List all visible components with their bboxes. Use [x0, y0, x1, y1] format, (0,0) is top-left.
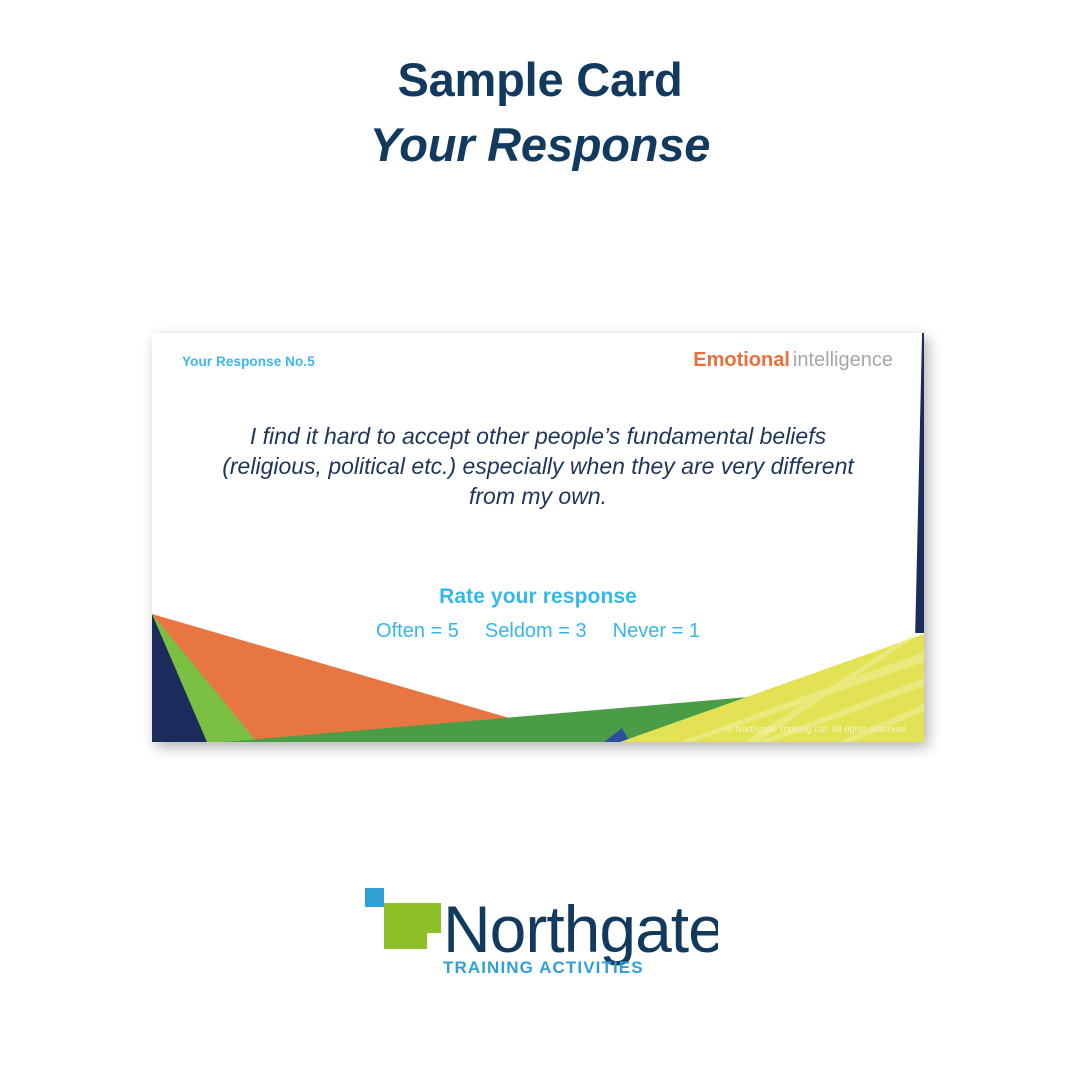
brand-word-intelligence: intelligence — [793, 349, 893, 371]
page-title-line-1: Sample Card — [0, 55, 1080, 106]
card-bottom-graphic-decoration — [152, 592, 924, 742]
page-title: Sample Card Your Response — [0, 55, 1080, 171]
logo-blue-square-icon — [365, 888, 384, 907]
card-number-label: Your Response No.5 — [182, 354, 315, 369]
logo-green-block-icon — [384, 903, 441, 949]
card-statement-text: I find it hard to accept other people’s … — [212, 421, 864, 511]
page-title-line-2: Your Response — [0, 120, 1080, 171]
card-header: Your Response No.5 Emotionalintelligence — [152, 349, 924, 383]
sample-card: Your Response No.5 Emotionalintelligence… — [152, 333, 924, 742]
brand-word-emotional: Emotional — [693, 349, 790, 371]
card-copyright-text: © Northgate Training Ltd. All rights res… — [726, 724, 908, 734]
logo-wordmark: Northgate — [443, 892, 718, 966]
logo-tagline: TRAINING ACTIVITIES — [443, 958, 644, 977]
brand-emotional-intelligence: Emotionalintelligence — [693, 349, 893, 372]
card-surface: Your Response No.5 Emotionalintelligence… — [152, 333, 924, 742]
northgate-logo: Northgate TRAINING ACTIVITIES — [363, 886, 718, 986]
